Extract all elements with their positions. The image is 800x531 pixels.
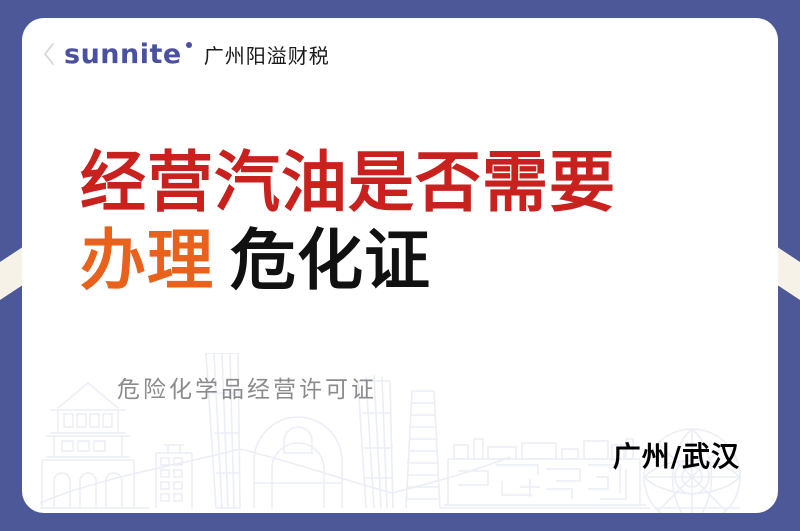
city-tag: 广州/武汉 [613,435,740,475]
content-card: sunnite 广州阳溢财税 经营汽油是否需要 办理危化证 危险化学品经营许可证… [22,18,778,513]
chevron-left-icon[interactable] [40,39,58,69]
headline-line-1: 经营汽油是否需要 [80,146,760,220]
headline-line-2: 办理危化证 [80,224,760,298]
subtitle-text: 危险化学品经营许可证 [117,370,377,404]
poster-canvas: sunnite 广州阳溢财税 经营汽油是否需要 办理危化证 危险化学品经营许可证… [0,0,800,531]
headline-rest: 危化证 [230,222,431,299]
headline-block: 经营汽油是否需要 办理危化证 [80,146,760,298]
sunnite-logo[interactable]: sunnite [64,41,192,68]
company-name: 广州阳溢财税 [204,40,330,69]
headline-highlight: 办理 [80,222,214,299]
card-header: sunnite 广州阳溢财税 [22,18,778,90]
sunnite-logo-text: sunnite [64,39,182,70]
registered-dot-icon [186,42,192,48]
